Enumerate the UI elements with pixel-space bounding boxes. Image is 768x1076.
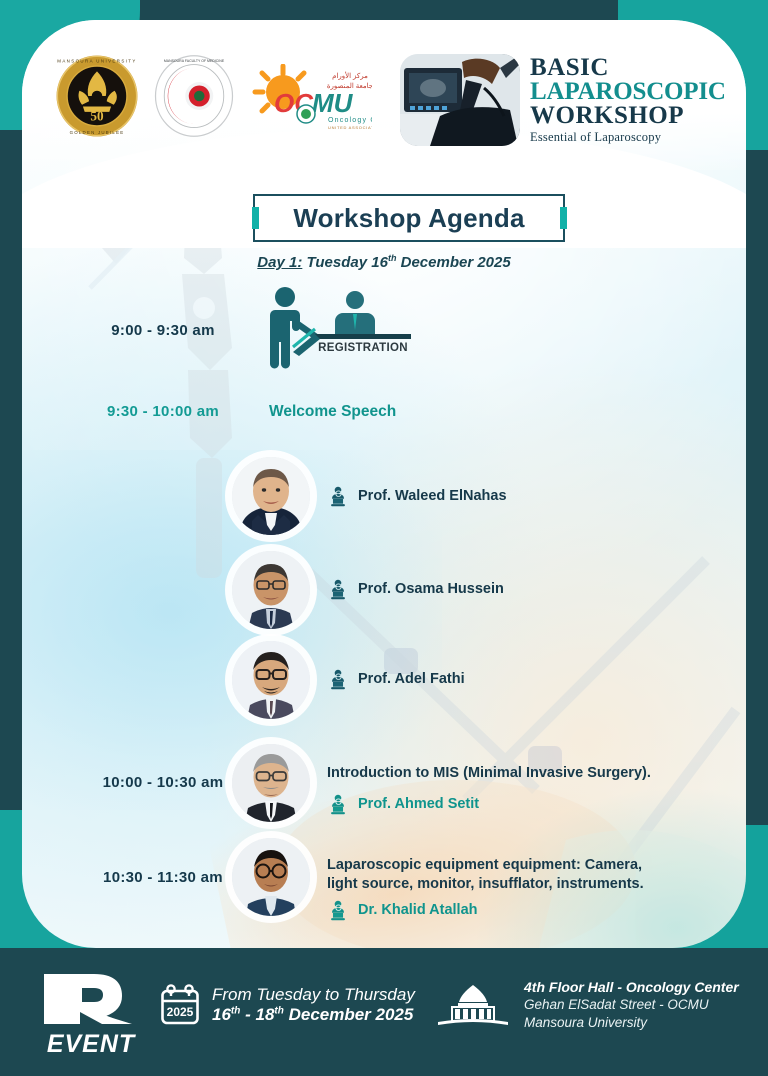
footer-date-day-1-ordinal: th [231, 1005, 240, 1016]
footer-date-day-2: 18 [255, 1005, 274, 1024]
agenda-row-time: 9:00 - 9:30 am [68, 322, 258, 339]
agenda-speaker-row: Prof. Osama Hussein [327, 578, 504, 600]
banner-title-line-2: LAPAROSCOPIC [530, 80, 740, 104]
r-event-logo-text: EVENT [47, 1030, 137, 1058]
banner-title-line-3: WORKSHOP [530, 104, 740, 128]
agenda-row-time: 10:30 - 11:30 am [68, 869, 258, 886]
footer-dates-line-1: From Tuesday to Thursday [212, 985, 415, 1005]
agenda-day-value: Tuesday 16 [307, 254, 388, 271]
banner-subtitle: Essential of Laparoscopy [530, 130, 740, 145]
r-event-logo: EVENT [36, 966, 146, 1058]
podium-speaker-icon [327, 668, 349, 690]
agenda-row-title: Laparoscopic equipment equipment: Camera… [327, 856, 737, 894]
podium-speaker-icon [327, 899, 349, 921]
svg-text:UNITED ASSOCIATION OF SYSTEMS: UNITED ASSOCIATION OF SYSTEMS [328, 125, 372, 130]
agenda-row-title-line-1: Laparoscopic equipment equipment: Camera… [327, 856, 737, 875]
agenda-box-tick-left [252, 207, 259, 229]
agenda-speaker-name: Prof. Osama Hussein [358, 581, 504, 597]
avatar-ahmed-setit [232, 744, 310, 822]
agenda-day-prefix: Day 1: [257, 254, 302, 271]
content-card: 50 MANSOURA UNIVERSITY GOLDEN JUBILEE MA… [22, 20, 746, 948]
podium-speaker-icon [327, 485, 349, 507]
agenda-speaker-name: Prof. Waleed ElNahas [358, 488, 507, 504]
agenda-day-line: Day 1: Tuesday 16th December 2025 [22, 253, 746, 271]
agenda-box-tick-right [560, 207, 567, 229]
footer-date-month: December 2025 [284, 1005, 413, 1024]
footer-venue-line-2: Gehan ElSadat Street - OCMU [524, 996, 739, 1014]
footer-bar: EVENT 2025 From Tuesday to Thursday 16th… [0, 948, 768, 1076]
footer-dates-block: 2025 From Tuesday to Thursday 16th - 18t… [160, 984, 415, 1026]
agenda-row-time: 9:30 - 10:00 am [68, 403, 258, 420]
laparoscopy-operating-room-photo [400, 54, 520, 146]
footer-date-separator: - [240, 1005, 255, 1024]
svg-text:50: 50 [90, 109, 104, 124]
calendar-icon: 2025 [160, 984, 200, 1026]
svg-text:MANSOURA FACULTY OF MEDICINE: MANSOURA FACULTY OF MEDICINE [164, 59, 225, 63]
svg-text:MU: MU [312, 88, 354, 118]
agenda-speaker-row: Prof. Adel Fathi [327, 668, 465, 690]
agenda-speaker-row: Prof. Ahmed Setit [327, 793, 479, 815]
svg-text:مركز الأورام: مركز الأورام [332, 70, 368, 80]
footer-date-day-2-ordinal: th [274, 1005, 283, 1016]
avatar-khalid-atallah [232, 838, 310, 916]
svg-text:MANSOURA UNIVERSITY: MANSOURA UNIVERSITY [57, 59, 136, 64]
mansoura-university-golden-jubilee-logo: 50 MANSOURA UNIVERSITY GOLDEN JUBILEE [53, 52, 141, 140]
podium-speaker-icon [327, 578, 349, 600]
agenda-row-title: Welcome Speech [269, 402, 396, 422]
footer-venue-block: 4th Floor Hall - Oncology Center Gehan E… [434, 978, 739, 1032]
podium-speaker-icon [327, 793, 349, 815]
agenda-speaker-name: Prof. Adel Fathi [358, 671, 465, 687]
svg-text:GOLDEN JUBILEE: GOLDEN JUBILEE [70, 130, 125, 135]
banner-title-line-1: BASIC [530, 56, 740, 80]
agenda-day-suffix: December 2025 [396, 254, 510, 271]
agenda-speaker-row: Dr. Khalid Atallah [327, 899, 478, 921]
registration-icon-label: REGISTRATION [318, 342, 408, 354]
agenda-speaker-name: Dr. Khalid Atallah [358, 902, 478, 918]
footer-date-day-1: 16 [212, 1005, 231, 1024]
page-title: Workshop Agenda [293, 203, 524, 234]
calendar-icon-year: 2025 [167, 1005, 194, 1019]
avatar-waleed-elnahas [232, 457, 310, 535]
avatar-adel-fathi [232, 641, 310, 719]
svg-text:Oncology Center: Oncology Center [328, 117, 372, 124]
ocmu-oncology-center-logo: OC MU مركز الأورام جامعة المنصورة Oncolo… [250, 64, 372, 134]
svg-text:جامعة المنصورة: جامعة المنصورة [327, 82, 372, 90]
agenda-speaker-name: Prof. Ahmed Setit [358, 796, 479, 812]
agenda-row-title: Introduction to MIS (Minimal Invasive Su… [327, 764, 727, 783]
agenda-row-title-line-2: light source, monitor, insufflator, inst… [327, 875, 737, 894]
agenda-speaker-row: Prof. Waleed ElNahas [327, 485, 507, 507]
agenda-title-box: Workshop Agenda [253, 194, 565, 242]
registration-desk-icon: REGISTRATION [263, 286, 415, 372]
agenda-row-time: 10:00 - 10:30 am [68, 774, 258, 791]
poster-root: 50 MANSOURA UNIVERSITY GOLDEN JUBILEE MA… [0, 0, 768, 1076]
building-dome-icon [434, 982, 512, 1028]
avatar-osama-hussein [232, 551, 310, 629]
footer-dates-line-2: 16th - 18th December 2025 [212, 1005, 415, 1025]
footer-venue-line-3: Mansoura University [524, 1014, 739, 1032]
footer-venue-line-1: 4th Floor Hall - Oncology Center [524, 978, 739, 996]
logo-row: 50 MANSOURA UNIVERSITY GOLDEN JUBILEE MA… [22, 20, 746, 160]
faculty-of-medicine-logo: MANSOURA FACULTY OF MEDICINE [153, 54, 235, 138]
workshop-banner-title: BASIC LAPAROSCOPIC WORKSHOP Essential of… [530, 56, 740, 145]
